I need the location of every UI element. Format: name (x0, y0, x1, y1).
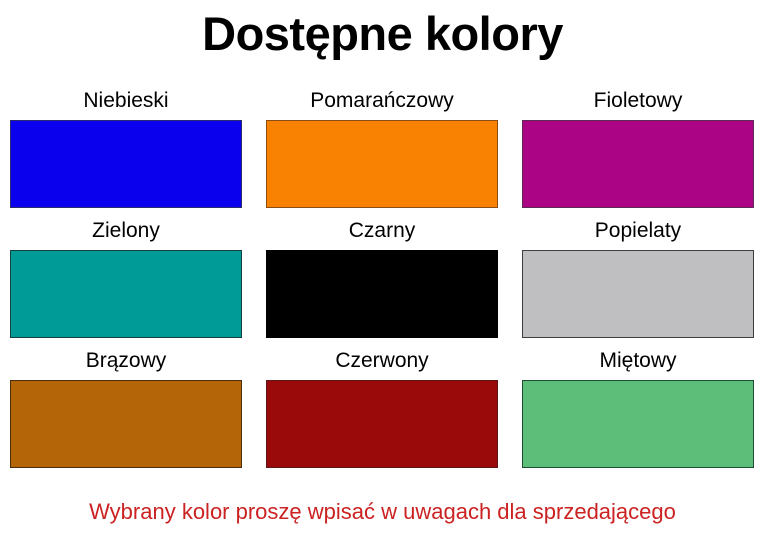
color-option-czarny[interactable]: Czarny (266, 220, 498, 338)
color-option-zielony[interactable]: Zielony (10, 220, 242, 338)
swatch-row: Brązowy Czerwony Miętowy (0, 350, 765, 468)
color-swatch[interactable] (522, 250, 754, 338)
color-options-page: Dostępne kolory Niebieski Pomarańczowy F… (0, 0, 765, 539)
color-option-pomaranczowy[interactable]: Pomarańczowy (266, 90, 498, 208)
color-swatch[interactable] (10, 120, 242, 208)
swatch-row: Niebieski Pomarańczowy Fioletowy (0, 90, 765, 208)
color-option-mietowy[interactable]: Miętowy (522, 350, 754, 468)
color-swatch-grid: Niebieski Pomarańczowy Fioletowy Zielony… (0, 90, 765, 480)
color-label: Czerwony (266, 350, 498, 380)
color-option-czerwony[interactable]: Czerwony (266, 350, 498, 468)
color-swatch[interactable] (266, 250, 498, 338)
color-label: Brązowy (10, 350, 242, 380)
color-option-brazowy[interactable]: Brązowy (10, 350, 242, 468)
color-swatch[interactable] (10, 380, 242, 468)
color-swatch[interactable] (266, 380, 498, 468)
color-swatch[interactable] (522, 380, 754, 468)
color-label: Miętowy (522, 350, 754, 380)
swatch-row: Zielony Czarny Popielaty (0, 220, 765, 338)
color-label: Fioletowy (522, 90, 754, 120)
color-label: Popielaty (522, 220, 754, 250)
color-option-niebieski[interactable]: Niebieski (10, 90, 242, 208)
color-label: Pomarańczowy (266, 90, 498, 120)
color-label: Zielony (10, 220, 242, 250)
color-swatch[interactable] (266, 120, 498, 208)
color-option-fioletowy[interactable]: Fioletowy (522, 90, 754, 208)
color-swatch[interactable] (522, 120, 754, 208)
color-label: Czarny (266, 220, 498, 250)
color-option-popielaty[interactable]: Popielaty (522, 220, 754, 338)
color-swatch[interactable] (10, 250, 242, 338)
page-title: Dostępne kolory (0, 6, 765, 61)
color-label: Niebieski (10, 90, 242, 120)
order-instruction-note: Wybrany kolor proszę wpisać w uwagach dl… (0, 500, 765, 524)
